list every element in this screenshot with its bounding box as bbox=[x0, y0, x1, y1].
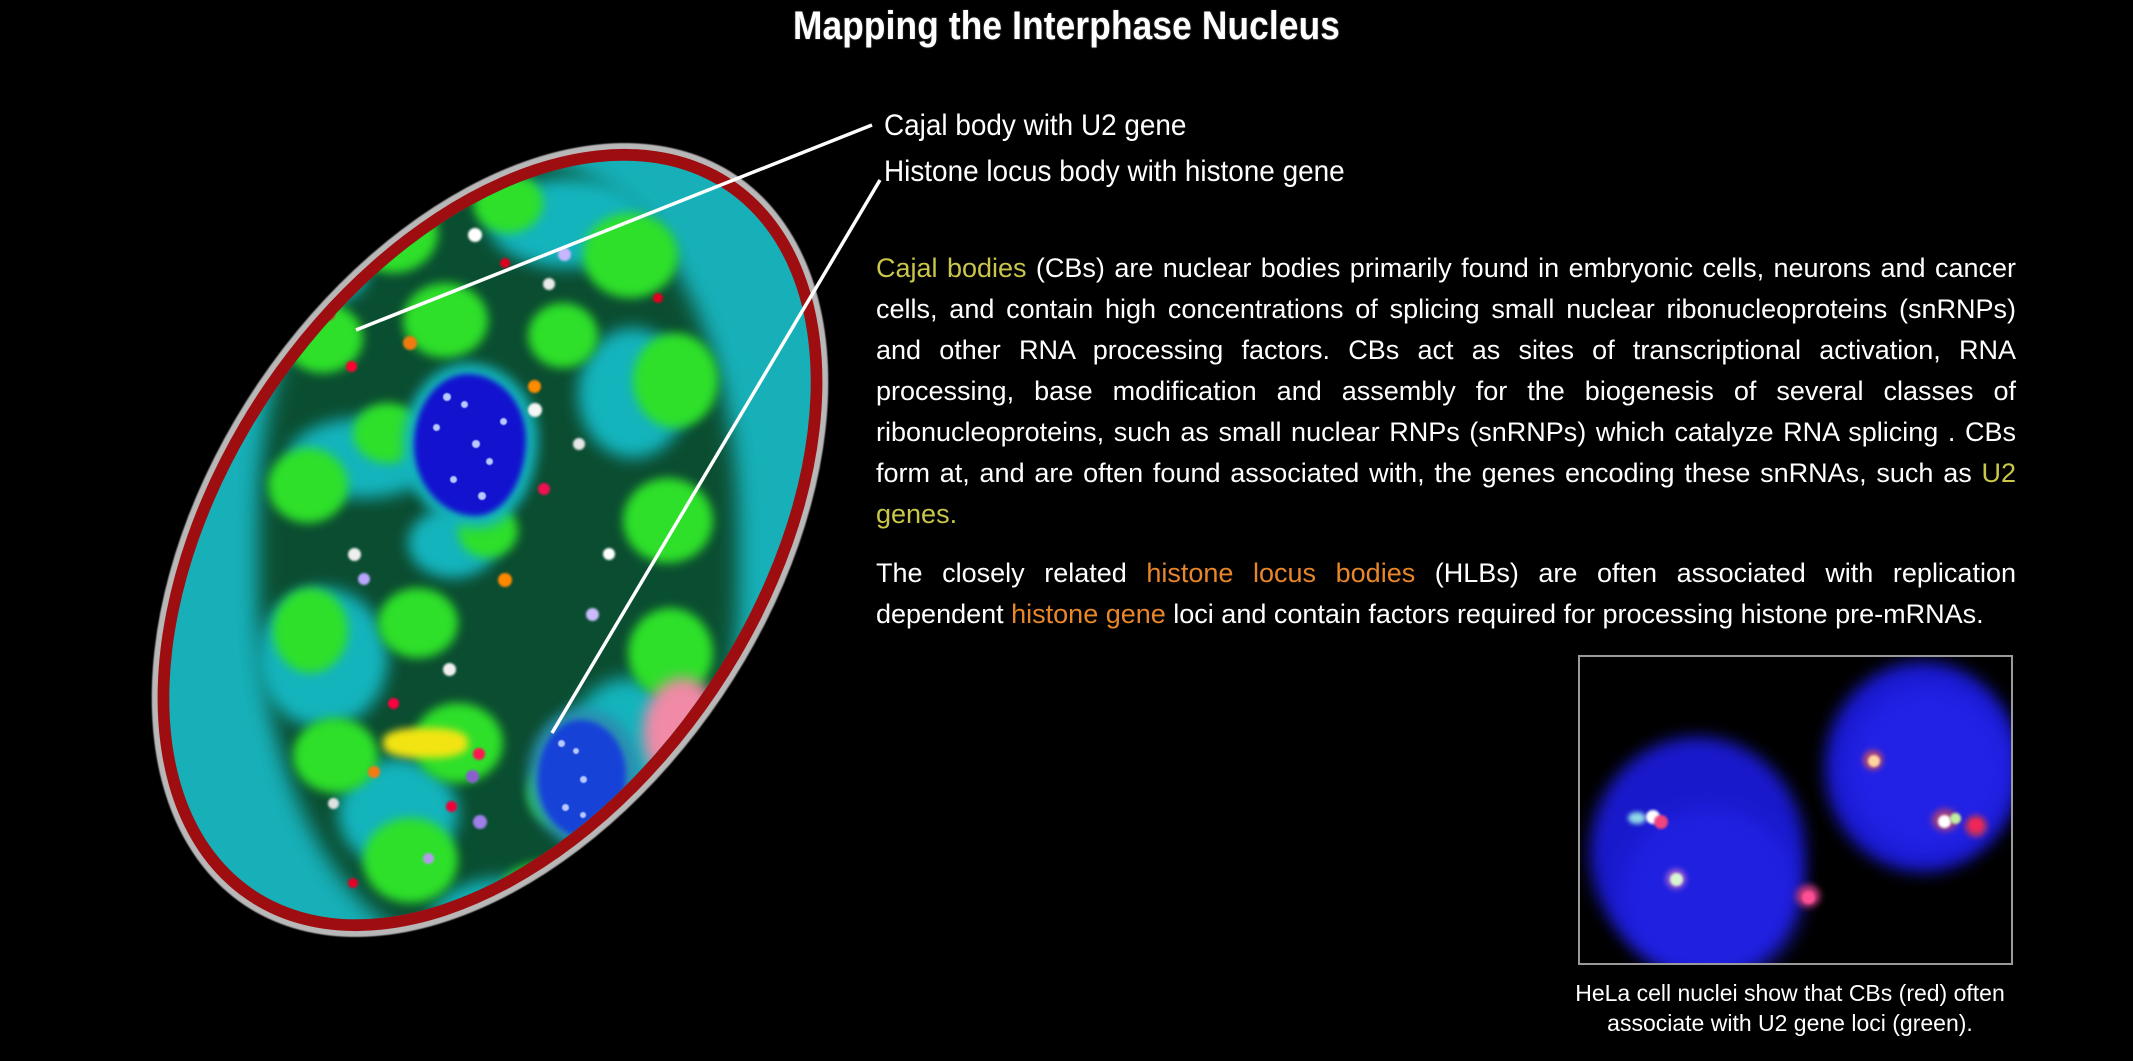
nucleolus-speckle bbox=[573, 748, 579, 754]
paragraph-cajal-bodies: Cajal bodies (CBs) are nuclear bodies pr… bbox=[876, 248, 2016, 535]
orange-focus bbox=[528, 380, 541, 393]
red-focus bbox=[558, 853, 568, 863]
nucleoplasm-clip bbox=[37, 44, 943, 1037]
nucleolus-speckle bbox=[472, 440, 480, 448]
nucleolus-speckle bbox=[443, 393, 451, 401]
yellow-track bbox=[383, 728, 468, 758]
description-text: Cajal bodies (CBs) are nuclear bodies pr… bbox=[876, 248, 2016, 635]
orange-focus bbox=[498, 573, 512, 587]
nucleolus-speckle bbox=[486, 458, 493, 465]
chromosome-domain bbox=[528, 303, 598, 368]
white-focus bbox=[533, 888, 546, 901]
red-focus bbox=[388, 698, 399, 709]
paragraph-histone-locus-bodies: The closely related histone locus bodies… bbox=[876, 553, 2016, 635]
hela-nuclei-inset bbox=[1578, 655, 2013, 965]
hela-focus-red bbox=[1802, 891, 1815, 904]
chromosome-domain bbox=[378, 588, 458, 658]
red-focus bbox=[500, 258, 510, 268]
white-focus bbox=[468, 228, 482, 242]
nucleolus-speckle bbox=[500, 418, 507, 425]
white-focus bbox=[328, 798, 339, 809]
white-focus bbox=[308, 258, 321, 271]
orange-focus bbox=[403, 336, 417, 350]
chromosome-domain bbox=[633, 333, 718, 428]
chromosome-domain bbox=[363, 818, 458, 903]
violet-focus bbox=[358, 573, 370, 585]
chromosome-domain bbox=[348, 193, 438, 273]
keyword-histone-locus-bodies: histone locus bodies bbox=[1146, 558, 1415, 588]
white-focus bbox=[348, 548, 361, 561]
orange-focus bbox=[368, 766, 380, 778]
chromosome-domain bbox=[583, 213, 678, 298]
interphase-nucleus-micrograph bbox=[80, 70, 900, 1010]
violet-focus bbox=[466, 770, 479, 783]
hela-focus-red bbox=[1970, 819, 1982, 831]
paragraph2-part3: loci and contain factors required for pr… bbox=[1166, 599, 1984, 629]
white-focus bbox=[573, 438, 585, 450]
violet-focus bbox=[586, 608, 599, 621]
chromosome-domain bbox=[623, 478, 713, 563]
hela-focus-green bbox=[1628, 812, 1646, 824]
hela-focus-core bbox=[1868, 755, 1880, 767]
red-focus bbox=[446, 801, 457, 812]
page-title: Mapping the Interphase Nucleus bbox=[128, 4, 2005, 49]
inset-caption: HeLa cell nuclei show that CBs (red) oft… bbox=[1545, 978, 2035, 1038]
keyword-histone-gene: histone gene bbox=[1011, 599, 1166, 629]
nucleolus-speckle bbox=[580, 776, 587, 783]
white-focus bbox=[528, 403, 542, 417]
white-focus bbox=[443, 663, 456, 676]
red-focus bbox=[473, 748, 485, 760]
chromosome-domain bbox=[273, 588, 348, 673]
hela-focus-red bbox=[1654, 815, 1668, 829]
violet-focus bbox=[558, 248, 571, 261]
violet-focus bbox=[473, 815, 487, 829]
nucleoplasm-contents bbox=[228, 118, 752, 962]
nucleolus-speckle bbox=[478, 492, 486, 500]
violet-focus bbox=[423, 853, 434, 864]
nucleolus-speckle bbox=[580, 812, 586, 818]
hela-focus-green bbox=[1670, 873, 1683, 886]
red-focus bbox=[538, 483, 550, 495]
chromosome-domain bbox=[613, 808, 683, 873]
red-focus bbox=[348, 878, 358, 888]
red-focus bbox=[653, 293, 663, 303]
nucleolus-upper bbox=[414, 374, 526, 516]
keyword-cajal-bodies: Cajal bodies bbox=[876, 253, 1027, 283]
nucleolus-speckle bbox=[461, 401, 468, 408]
callout-cajal-body: Cajal body with U2 gene bbox=[884, 103, 1721, 149]
chromosome-domain bbox=[268, 448, 348, 523]
paragraph2-part1: The closely related bbox=[876, 558, 1146, 588]
nucleolus-speckle bbox=[562, 804, 569, 811]
paragraph1-main: (CBs) are nuclear bodies primarily found… bbox=[876, 253, 2016, 488]
nucleolus-speckle bbox=[558, 740, 565, 747]
nucleolus-speckle bbox=[450, 476, 457, 483]
hela-focus-green bbox=[1950, 813, 1961, 824]
white-focus bbox=[543, 278, 555, 290]
red-focus bbox=[346, 361, 357, 372]
white-focus bbox=[603, 548, 615, 560]
nucleolus-speckle bbox=[433, 424, 440, 431]
callout-labels: Cajal body with U2 gene Histone locus bo… bbox=[884, 103, 1784, 195]
chromosome-domain bbox=[293, 718, 378, 793]
callout-histone-locus-body: Histone locus body with histone gene bbox=[884, 149, 1721, 195]
chromosome-domain bbox=[473, 173, 543, 233]
